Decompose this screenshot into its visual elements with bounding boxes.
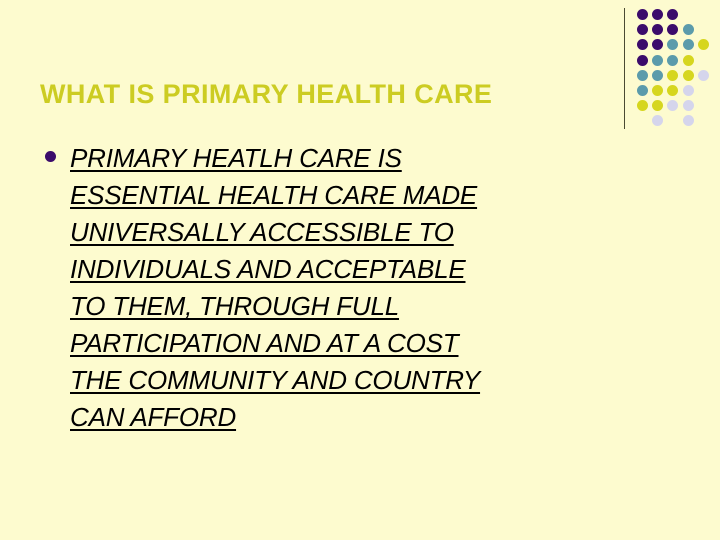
decorative-dot <box>667 85 678 96</box>
decorative-dot <box>683 115 694 126</box>
decorative-dot <box>683 24 694 35</box>
decorative-dot <box>637 24 648 35</box>
body-text-line-content: TO THEM, THROUGH FULL <box>70 291 399 321</box>
decorative-dot <box>683 70 694 81</box>
body-text-line-content: CAN AFFORD <box>70 402 236 432</box>
decorative-dot <box>683 85 694 96</box>
body-text-line: INDIVIDUALS AND ACCEPTABLE <box>70 251 640 288</box>
dot-grid-motif <box>612 0 720 140</box>
dot-grid <box>637 9 717 134</box>
decorative-dot <box>637 100 648 111</box>
body-text-line-content: THE COMMUNITY AND COUNTRY <box>70 365 480 395</box>
body-text-line: THE COMMUNITY AND COUNTRY <box>70 362 640 399</box>
decorative-dot <box>698 70 709 81</box>
slide-canvas: WHAT IS PRIMARY HEALTH CARE PRIMARY HEAT… <box>0 0 720 540</box>
decorative-dot <box>667 39 678 50</box>
body-text-line: CAN AFFORD <box>70 399 640 436</box>
body-text-line-content: UNIVERSALLY ACCESSIBLE TO <box>70 217 454 247</box>
decorative-dot <box>637 55 648 66</box>
body-text-line: UNIVERSALLY ACCESSIBLE TO <box>70 214 640 251</box>
body-text-line-content: INDIVIDUALS AND ACCEPTABLE <box>70 254 466 284</box>
decorative-dot <box>652 24 663 35</box>
page-title: WHAT IS PRIMARY HEALTH CARE <box>40 77 600 111</box>
decorative-dot <box>683 55 694 66</box>
body-text-line: ESSENTIAL HEALTH CARE MADE <box>70 177 640 214</box>
decorative-dot <box>652 85 663 96</box>
decorative-dot <box>637 85 648 96</box>
decorative-dot <box>667 9 678 20</box>
body-text-line-content: PRIMARY HEATLH CARE IS <box>70 143 402 173</box>
body-text-line-content: PARTICIPATION AND AT A COST <box>70 328 459 358</box>
decorative-dot <box>652 100 663 111</box>
body-text-lines: PRIMARY HEATLH CARE ISESSENTIAL HEALTH C… <box>70 140 640 436</box>
bullet-list-item: PRIMARY HEATLH CARE ISESSENTIAL HEALTH C… <box>40 140 640 436</box>
decorative-dot <box>683 39 694 50</box>
decorative-dot <box>667 100 678 111</box>
body-text-line: PARTICIPATION AND AT A COST <box>70 325 640 362</box>
body-text-line: TO THEM, THROUGH FULL <box>70 288 640 325</box>
body-text-line-content: ESSENTIAL HEALTH CARE MADE <box>70 180 477 210</box>
decorative-dot <box>652 39 663 50</box>
body-content: PRIMARY HEATLH CARE ISESSENTIAL HEALTH C… <box>40 140 640 436</box>
vertical-rule-divider <box>624 8 625 129</box>
decorative-dot <box>652 115 663 126</box>
body-text-line: PRIMARY HEATLH CARE IS <box>70 140 640 177</box>
decorative-dot <box>683 100 694 111</box>
decorative-dot <box>637 39 648 50</box>
decorative-dot <box>652 9 663 20</box>
decorative-dot <box>637 70 648 81</box>
decorative-dot <box>637 9 648 20</box>
decorative-dot <box>667 70 678 81</box>
decorative-dot <box>667 55 678 66</box>
bullet-point-icon <box>45 151 56 162</box>
decorative-dot <box>698 39 709 50</box>
decorative-dot <box>667 24 678 35</box>
decorative-dot <box>652 55 663 66</box>
decorative-dot <box>652 70 663 81</box>
